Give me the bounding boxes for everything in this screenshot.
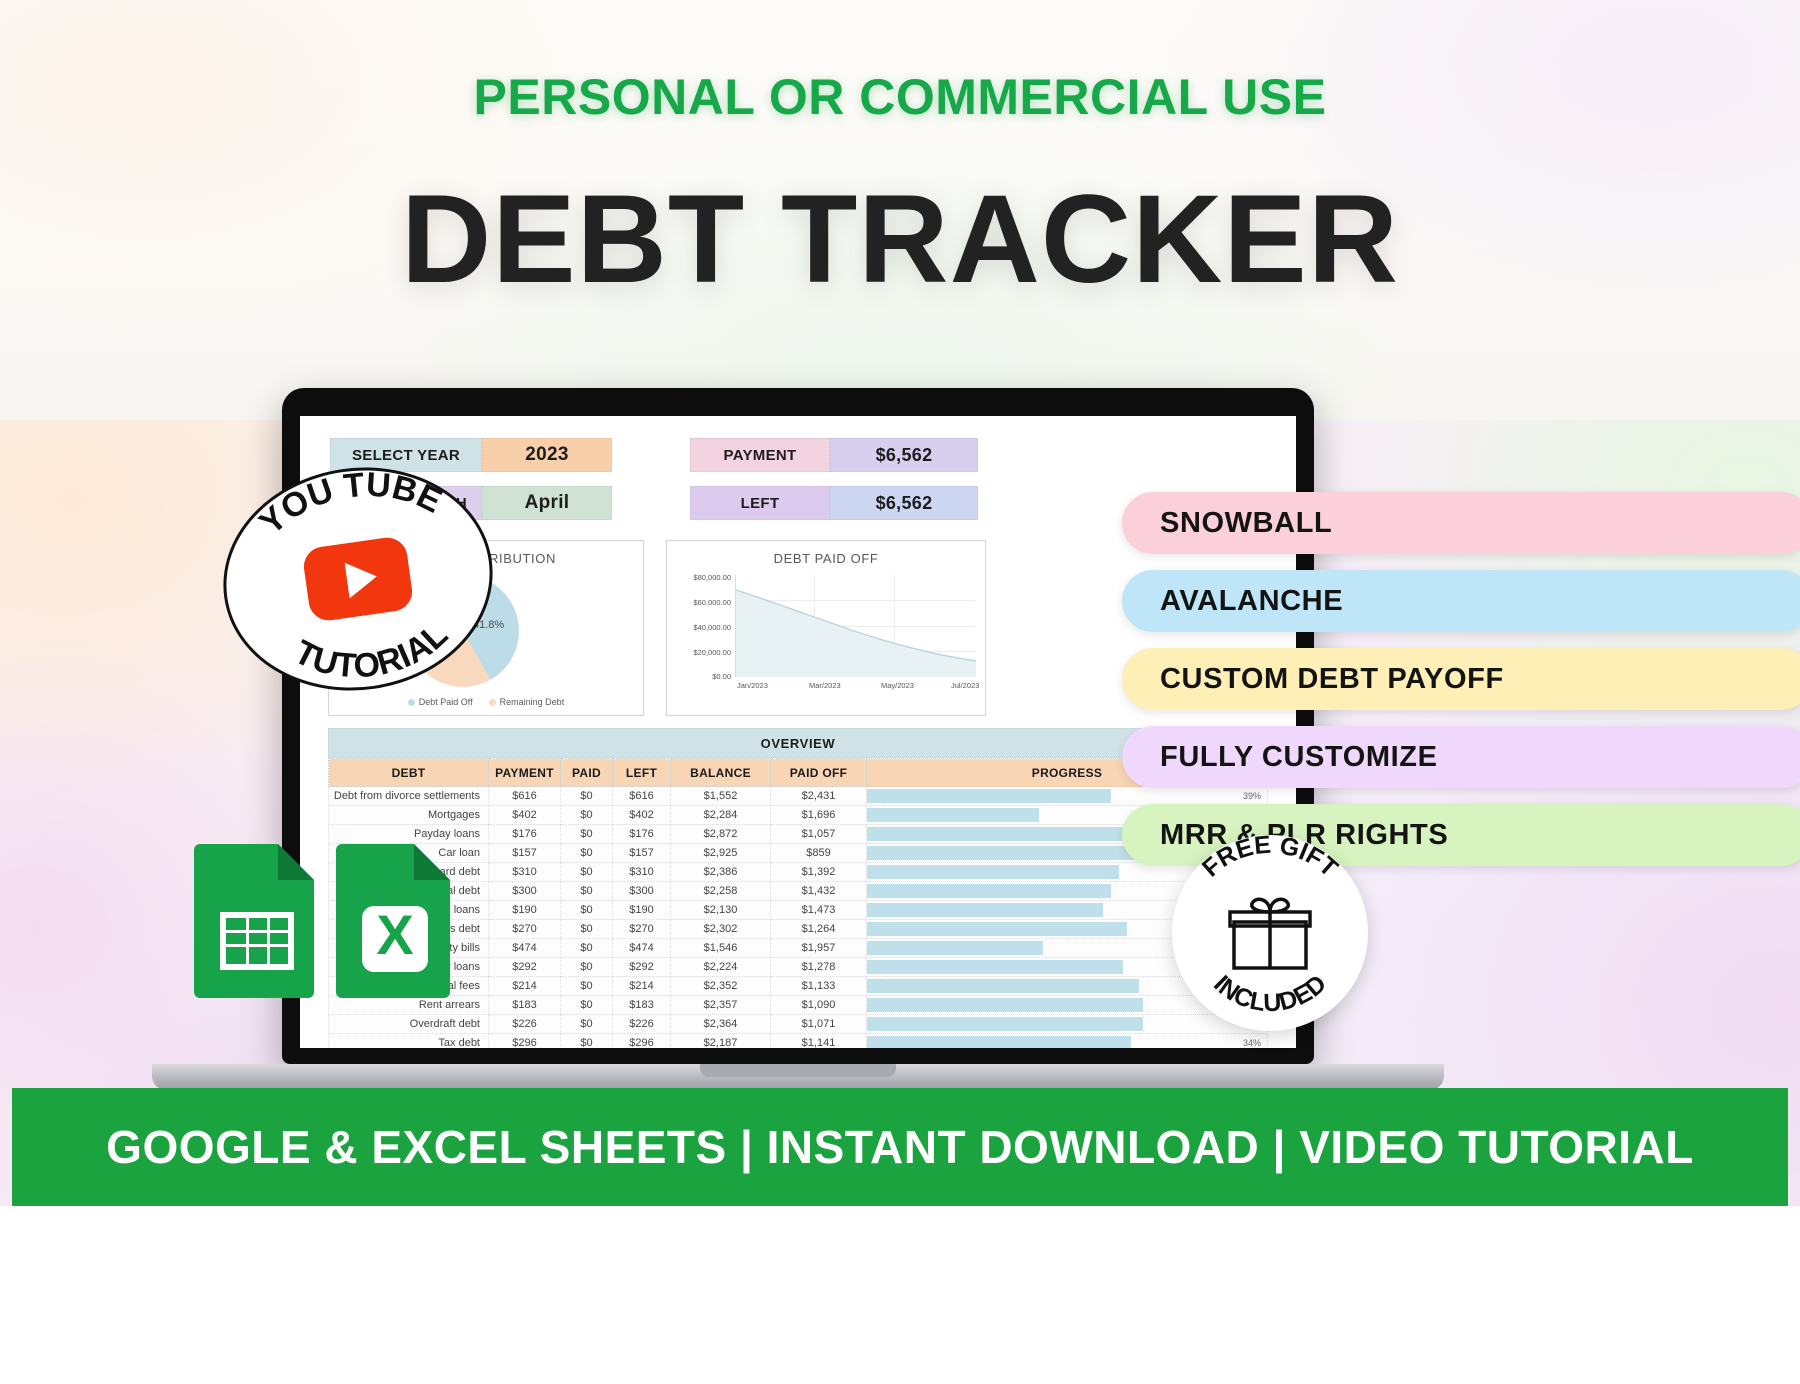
cell-paid: $0 bbox=[561, 1034, 613, 1049]
cell-paid: $0 bbox=[561, 958, 613, 977]
progress-bar bbox=[867, 941, 1043, 955]
progress-bar bbox=[867, 865, 1119, 879]
cell-paid-off: $1,133 bbox=[771, 977, 867, 996]
cell-payment: $157 bbox=[489, 844, 561, 863]
feature-pill: AVALANCHE bbox=[1122, 570, 1800, 632]
cell-paid: $0 bbox=[561, 901, 613, 920]
col-header-balance: BALANCE bbox=[671, 759, 771, 787]
cell-paid-off: $1,432 bbox=[771, 882, 867, 901]
cell-payment: $300 bbox=[489, 882, 561, 901]
laptop-notch bbox=[700, 1064, 896, 1077]
y-tick-label: $0.00 bbox=[712, 672, 731, 681]
progress-bar bbox=[867, 903, 1103, 917]
footer-bar: GOOGLE & EXCEL SHEETS | INSTANT DOWNLOAD… bbox=[12, 1088, 1788, 1206]
cell-paid: $0 bbox=[561, 825, 613, 844]
cell-left: $402 bbox=[613, 806, 671, 825]
cell-paid: $0 bbox=[561, 920, 613, 939]
progress-bar bbox=[867, 979, 1139, 993]
legend-item-remaining: Remaining Debt bbox=[489, 697, 565, 707]
cell-balance: $2,386 bbox=[671, 863, 771, 882]
youtube-play-icon[interactable] bbox=[301, 535, 414, 623]
gift-box-icon bbox=[1228, 894, 1312, 972]
line-chart-x-axis: Jan/2023 Mar/2023 May/2023 Jul/2023 bbox=[729, 681, 979, 695]
cell-paid-off: $2,431 bbox=[771, 787, 867, 806]
cell-payment: $402 bbox=[489, 806, 561, 825]
col-header-paid-off: PAID OFF bbox=[771, 759, 867, 787]
cell-paid-off: $1,071 bbox=[771, 1015, 867, 1034]
cell-paid-off: $1,473 bbox=[771, 901, 867, 920]
feature-pill-list: SNOWBALLAVALANCHECUSTOM DEBT PAYOFFFULLY… bbox=[1122, 492, 1800, 882]
cell-left: $300 bbox=[613, 882, 671, 901]
cell-debt: Mortgages bbox=[329, 806, 489, 825]
cell-left: $270 bbox=[613, 920, 671, 939]
cell-left: $474 bbox=[613, 939, 671, 958]
progress-bar bbox=[867, 960, 1123, 974]
cell-paid-off: $1,957 bbox=[771, 939, 867, 958]
cell-left: $214 bbox=[613, 977, 671, 996]
cell-balance: $1,552 bbox=[671, 787, 771, 806]
free-gift-badge: FREE GIFT INCLUDED bbox=[1172, 835, 1368, 1031]
progress-bar bbox=[867, 827, 1159, 841]
table-row: Home equity loans$292$0$292$2,224$1,2783… bbox=[329, 958, 1268, 977]
cell-paid: $0 bbox=[561, 1015, 613, 1034]
cell-balance: $2,130 bbox=[671, 901, 771, 920]
table-row: Overdraft debt$226$0$226$2,364$1,07131% bbox=[329, 1015, 1268, 1034]
progress-bar bbox=[867, 789, 1111, 803]
cell-paid: $0 bbox=[561, 882, 613, 901]
cell-left: $157 bbox=[613, 844, 671, 863]
cell-paid-off: $1,278 bbox=[771, 958, 867, 977]
progress-bar bbox=[867, 998, 1143, 1012]
legend-swatch-icon bbox=[489, 699, 496, 706]
svg-text:X: X bbox=[376, 903, 413, 966]
cell-balance: $2,872 bbox=[671, 825, 771, 844]
cell-payment: $474 bbox=[489, 939, 561, 958]
cell-payment: $292 bbox=[489, 958, 561, 977]
legend-swatch-icon bbox=[408, 699, 415, 706]
col-header-left: LEFT bbox=[613, 759, 671, 787]
payment-value: $6,562 bbox=[830, 438, 978, 472]
table-row: Personal loans$190$0$190$2,130$1,47341% bbox=[329, 901, 1268, 920]
progress-bar bbox=[867, 922, 1127, 936]
left-value: $6,562 bbox=[830, 486, 978, 520]
cell-paid-off: $1,264 bbox=[771, 920, 867, 939]
cell-paid: $0 bbox=[561, 977, 613, 996]
progress-bar bbox=[867, 884, 1111, 898]
cell-payment: $176 bbox=[489, 825, 561, 844]
feature-pill: CUSTOM DEBT PAYOFF bbox=[1122, 648, 1800, 710]
cell-progress: 34% bbox=[867, 1034, 1268, 1049]
cell-paid: $0 bbox=[561, 939, 613, 958]
col-header-paid: PAID bbox=[561, 759, 613, 787]
y-tick-label: $40,000.00 bbox=[693, 623, 731, 632]
cell-balance: $2,364 bbox=[671, 1015, 771, 1034]
select-month-value[interactable]: April bbox=[482, 486, 612, 520]
cell-debt: Debt from divorce settlements bbox=[329, 787, 489, 806]
progress-bar bbox=[867, 1036, 1131, 1048]
x-tick-label: Jan/2023 bbox=[737, 681, 768, 690]
progress-bar bbox=[867, 808, 1039, 822]
svg-text:INCLUDED: INCLUDED bbox=[1208, 969, 1332, 1017]
cell-payment: $183 bbox=[489, 996, 561, 1015]
x-tick-label: Mar/2023 bbox=[809, 681, 841, 690]
cell-left: $292 bbox=[613, 958, 671, 977]
cell-balance: $2,258 bbox=[671, 882, 771, 901]
cell-debt: Tax debt bbox=[329, 1034, 489, 1049]
y-tick-label: $80,000.00 bbox=[693, 573, 731, 582]
cell-left: $296 bbox=[613, 1034, 671, 1049]
microsoft-excel-icon: X bbox=[334, 838, 456, 1004]
y-tick-label: $60,000.00 bbox=[693, 598, 731, 607]
cell-paid: $0 bbox=[561, 863, 613, 882]
cell-payment: $296 bbox=[489, 1034, 561, 1049]
svg-text:TUTORIAL: TUTORIAL bbox=[284, 613, 459, 696]
footer-spacer bbox=[0, 1206, 1800, 1384]
page-title: DEBT TRACKER bbox=[0, 168, 1800, 311]
cell-balance: $2,352 bbox=[671, 977, 771, 996]
left-label: LEFT bbox=[690, 486, 830, 520]
cell-payment: $270 bbox=[489, 920, 561, 939]
debt-paid-off-chart: DEBT PAID OFF $80,000.00 $60,000.00 $40,… bbox=[666, 540, 986, 716]
cell-paid: $0 bbox=[561, 844, 613, 863]
cell-payment: $226 bbox=[489, 1015, 561, 1034]
feature-pill: SNOWBALL bbox=[1122, 492, 1800, 554]
cell-left: $226 bbox=[613, 1015, 671, 1034]
header-band: PERSONAL OR COMMERCIAL USE DEBT TRACKER bbox=[0, 0, 1800, 420]
cell-left: $183 bbox=[613, 996, 671, 1015]
cell-balance: $2,302 bbox=[671, 920, 771, 939]
cell-balance: $1,546 bbox=[671, 939, 771, 958]
cell-paid: $0 bbox=[561, 996, 613, 1015]
select-year-value[interactable]: 2023 bbox=[482, 438, 612, 472]
progress-percent-label: 34% bbox=[1243, 1038, 1261, 1048]
table-row: Tax debt$296$0$296$2,187$1,14134% bbox=[329, 1034, 1268, 1049]
progress-bar bbox=[867, 1017, 1143, 1031]
line-chart-y-axis: $80,000.00 $60,000.00 $40,000.00 $20,000… bbox=[675, 573, 731, 681]
table-row: Business debt$270$0$270$2,302$1,26435% bbox=[329, 920, 1268, 939]
cell-left: $190 bbox=[613, 901, 671, 920]
feature-pill: FULLY CUSTOMIZE bbox=[1122, 726, 1800, 788]
cell-payment: $214 bbox=[489, 977, 561, 996]
cell-paid: $0 bbox=[561, 787, 613, 806]
area-series bbox=[736, 575, 976, 677]
cell-paid-off: $1,392 bbox=[771, 863, 867, 882]
svg-text:FREE GIFT: FREE GIFT bbox=[1197, 835, 1343, 883]
table-row: Legal fees$214$0$214$2,352$1,13332% bbox=[329, 977, 1268, 996]
eyebrow-text: PERSONAL OR COMMERCIAL USE bbox=[0, 68, 1800, 126]
payment-label: PAYMENT bbox=[690, 438, 830, 472]
line-chart-title: DEBT PAID OFF bbox=[667, 551, 985, 566]
cell-balance: $2,224 bbox=[671, 958, 771, 977]
cell-balance: $2,925 bbox=[671, 844, 771, 863]
x-tick-label: Jul/2023 bbox=[951, 681, 979, 690]
cell-paid: $0 bbox=[561, 806, 613, 825]
cell-balance: $2,357 bbox=[671, 996, 771, 1015]
cell-payment: $190 bbox=[489, 901, 561, 920]
line-chart-plot-area bbox=[735, 575, 975, 677]
legend-item-paid-off: Debt Paid Off bbox=[408, 697, 473, 707]
google-sheets-icon bbox=[192, 838, 322, 1004]
footer-text: GOOGLE & EXCEL SHEETS | INSTANT DOWNLOAD… bbox=[106, 1120, 1694, 1174]
cell-paid-off: $1,057 bbox=[771, 825, 867, 844]
cell-paid-off: $1,090 bbox=[771, 996, 867, 1015]
table-row: Rent arrears$183$0$183$2,357$1,09031% bbox=[329, 996, 1268, 1015]
x-tick-label: May/2023 bbox=[881, 681, 914, 690]
left-row: LEFT $6,562 bbox=[690, 486, 978, 520]
pie-legend: Debt Paid Off Remaining Debt bbox=[329, 697, 643, 707]
cell-left: $176 bbox=[613, 825, 671, 844]
table-row: Medical debt$300$0$300$2,258$1,43239% bbox=[329, 882, 1268, 901]
legend-label-remaining: Remaining Debt bbox=[500, 697, 565, 707]
table-row: Utility bills$474$0$474$1,546$1,95756% bbox=[329, 939, 1268, 958]
cell-payment: $310 bbox=[489, 863, 561, 882]
cell-paid-off: $1,141 bbox=[771, 1034, 867, 1049]
y-tick-label: $20,000.00 bbox=[693, 648, 731, 657]
cell-balance: $2,187 bbox=[671, 1034, 771, 1049]
cell-paid-off: $859 bbox=[771, 844, 867, 863]
cell-left: $616 bbox=[613, 787, 671, 806]
col-header-debt: DEBT bbox=[329, 759, 489, 787]
youtube-tutorial-badge[interactable]: YOU TUBE TUTORIAL bbox=[209, 450, 507, 707]
cell-left: $310 bbox=[613, 863, 671, 882]
legend-label-paid-off: Debt Paid Off bbox=[419, 697, 473, 707]
cell-debt: Overdraft debt bbox=[329, 1015, 489, 1034]
cell-balance: $2,284 bbox=[671, 806, 771, 825]
payment-row: PAYMENT $6,562 bbox=[690, 438, 978, 472]
col-header-payment: PAYMENT bbox=[489, 759, 561, 787]
cell-payment: $616 bbox=[489, 787, 561, 806]
cell-paid-off: $1,696 bbox=[771, 806, 867, 825]
